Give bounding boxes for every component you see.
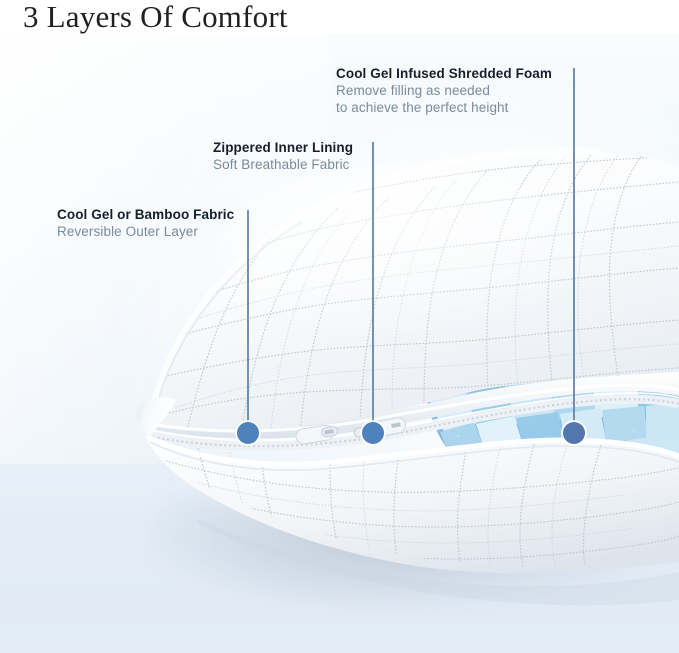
callout-dot-inner-lining[interactable] xyxy=(362,422,384,444)
callout-subtitle-shredded-foam-line-2: to achieve the perfect height xyxy=(336,99,552,116)
leader-line-3 xyxy=(573,68,575,435)
pillow-lower-body xyxy=(146,436,679,620)
callout-dot-shredded-foam[interactable] xyxy=(563,422,585,444)
callout-dot-outer-fabric[interactable] xyxy=(237,422,259,444)
callout-subtitle-outer-fabric-line-1: Reversible Outer Layer xyxy=(57,223,234,240)
callout-inner-lining: Zippered Inner Lining Soft Breathable Fa… xyxy=(213,140,353,173)
callout-title-shredded-foam: Cool Gel Infused Shredded Foam xyxy=(336,66,552,82)
callout-shredded-foam: Cool Gel Infused Shredded Foam Remove fi… xyxy=(336,66,552,116)
callout-title-outer-fabric: Cool Gel or Bamboo Fabric xyxy=(57,207,234,223)
callout-title-inner-lining: Zippered Inner Lining xyxy=(213,140,353,156)
callout-subtitle-inner-lining-line-1: Soft Breathable Fabric xyxy=(213,156,353,173)
leader-line-1 xyxy=(247,210,249,435)
callout-subtitle-shredded-foam-line-1: Remove filling as needed xyxy=(336,82,552,99)
callout-outer-fabric: Cool Gel or Bamboo Fabric Reversible Out… xyxy=(57,207,234,240)
page-title: 3 Layers Of Comfort xyxy=(23,0,288,35)
infographic-canvas: 3 Layers Of Comfort Cool Gel Infused Shr… xyxy=(0,0,679,653)
leader-line-2 xyxy=(372,142,374,435)
